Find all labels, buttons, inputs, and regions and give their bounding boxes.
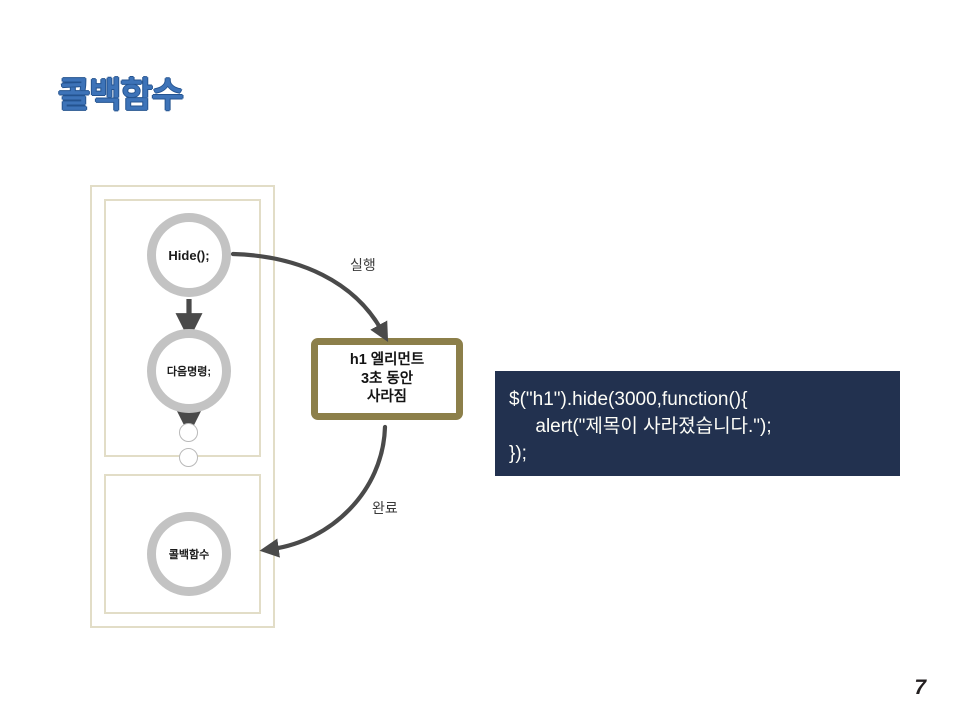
node-hide: Hide(); — [147, 213, 231, 297]
node-callback-function: 콜백함수 — [147, 512, 231, 596]
callback-flow-diagram: Hide(); 다음명령; 콜백함수 — [90, 185, 275, 628]
continuation-dot-1 — [179, 423, 198, 442]
process-box: h1 엘리먼트 3초 동안 사라짐 — [311, 338, 463, 420]
process-box-line-3: 사라짐 — [367, 388, 407, 407]
arrow-label-execute: 실행 — [350, 255, 376, 275]
arrow-label-complete: 완료 — [372, 498, 398, 518]
arrow-complete — [272, 427, 385, 549]
process-box-line-2: 3초 동안 — [361, 370, 413, 389]
page-number: 7 — [914, 676, 926, 700]
page-title: 콜백함수 — [58, 78, 183, 113]
code-snippet: $("h1").hide(3000,function(){ alert("제목이… — [495, 371, 900, 476]
process-box-line-1: h1 엘리먼트 — [350, 351, 424, 370]
continuation-dot-2 — [179, 448, 198, 467]
node-next-statement: 다음명령; — [147, 329, 231, 413]
